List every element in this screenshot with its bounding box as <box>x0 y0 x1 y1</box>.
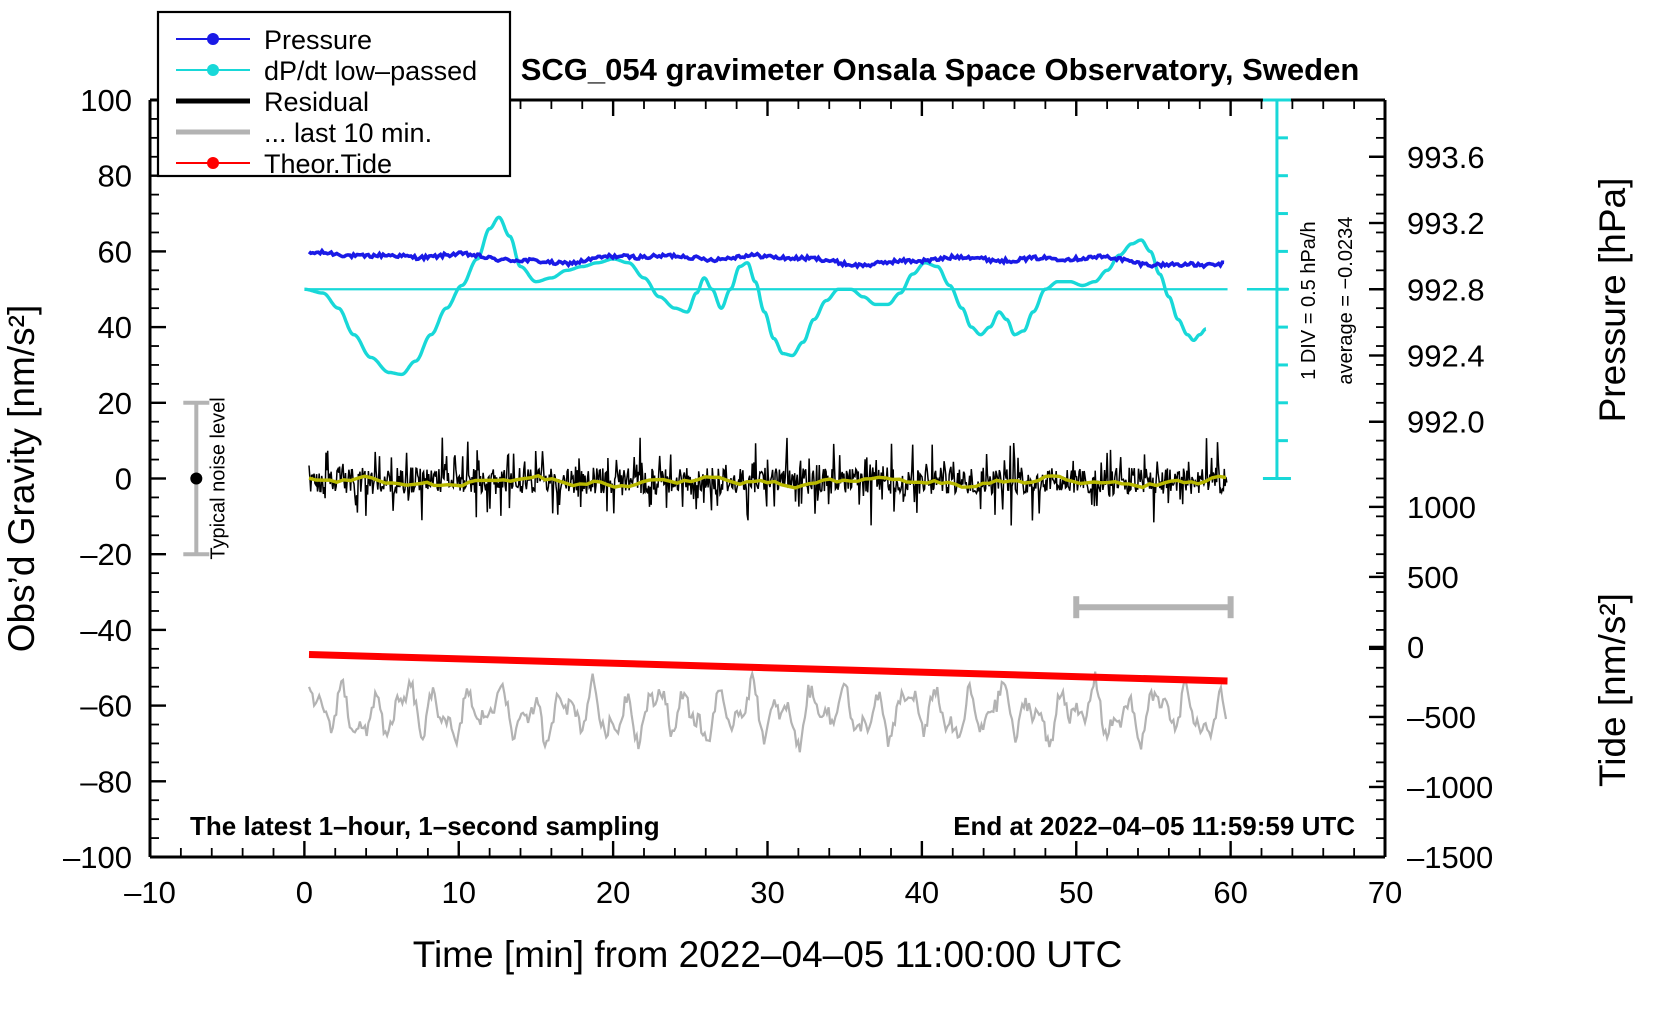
bottom-left-annotation: The latest 1–hour, 1–second sampling <box>190 811 660 841</box>
legend-label-1: dP/dt low–passed <box>264 56 477 86</box>
tide-tick-label: –1000 <box>1407 770 1493 805</box>
x-tick-label: 20 <box>596 875 630 910</box>
bottom-right-annotation: End at 2022–04–05 11:59:59 UTC <box>953 811 1355 841</box>
x-tick-label: 30 <box>750 875 784 910</box>
y-tick-label: 100 <box>80 83 132 118</box>
tide-axis-title: Tide [nm/s²] <box>1592 593 1633 787</box>
legend-label-4: Theor.Tide <box>264 149 392 179</box>
legend-label-3: ... last 10 min. <box>264 118 432 148</box>
y-tick-label: –60 <box>80 689 132 724</box>
x-axis-title: Time [min] from 2022–04–05 11:00:00 UTC <box>413 934 1123 975</box>
legend-marker-1 <box>207 64 219 76</box>
y-axis-left: –100–80–60–40–20020406080100Obs’d Gravit… <box>1 83 166 875</box>
x-tick-label: 50 <box>1059 875 1093 910</box>
gravimeter-time-series-chart: –10010203040506070Time [min] from 2022–0… <box>0 0 1660 1020</box>
tide-tick-label: 0 <box>1407 630 1424 665</box>
y-tick-label: 40 <box>98 310 132 345</box>
gravimeter-plot-page: –10010203040506070Time [min] from 2022–0… <box>0 0 1660 1020</box>
y-tick-label: –100 <box>63 840 132 875</box>
legend-marker-0 <box>207 33 219 45</box>
y-tick-label: 20 <box>98 386 132 421</box>
x-tick-label: 0 <box>296 875 313 910</box>
noise-level-label: Typical noise level <box>207 397 229 559</box>
x-tick-label: 70 <box>1368 875 1402 910</box>
pressure-axis-title: Pressure [hPa] <box>1592 178 1633 423</box>
x-tick-label: 10 <box>442 875 476 910</box>
legend: PressuredP/dt low–passedResidual... last… <box>158 12 510 179</box>
tide-tick-label: 500 <box>1407 560 1459 595</box>
tide-tick-label: –1500 <box>1407 840 1493 875</box>
scalebar-div-label: 1 DIV = 0.5 hPa/h <box>1298 221 1320 379</box>
pressure-tick-label: 993.6 <box>1407 140 1485 175</box>
x-tick-label: 40 <box>905 875 939 910</box>
pressure-tick-label: 992.8 <box>1407 272 1485 307</box>
y-tick-label: –40 <box>80 613 132 648</box>
tide-tick-label: 1000 <box>1407 490 1476 525</box>
pressure-tick-label: 992.0 <box>1407 405 1485 440</box>
noise-center-dot <box>190 473 202 485</box>
pressure-tick-label: 992.4 <box>1407 338 1485 373</box>
legend-label-2: Residual <box>264 87 369 117</box>
y-axis-right: 992.0992.4992.8993.2993.6–1500–1000–5000… <box>1369 100 1633 875</box>
legend-marker-4 <box>207 157 219 169</box>
y-tick-label: 80 <box>98 159 132 194</box>
scalebar-average-label: average = −0.0234 <box>1335 217 1357 385</box>
tide-tick-label: –500 <box>1407 700 1476 735</box>
x-tick-label: 60 <box>1213 875 1247 910</box>
x-tick-label: –10 <box>124 875 176 910</box>
chart-title: SCG_054 gravimeter Onsala Space Observat… <box>521 52 1360 87</box>
y-tick-label: 0 <box>115 462 132 497</box>
pressure-tick-label: 993.2 <box>1407 206 1485 241</box>
y-tick-label: –80 <box>80 764 132 799</box>
y-tick-label: 60 <box>98 234 132 269</box>
y-axis-title: Obs’d Gravity [nm/s²] <box>1 305 42 652</box>
y-tick-label: –20 <box>80 537 132 572</box>
legend-label-0: Pressure <box>264 25 372 55</box>
